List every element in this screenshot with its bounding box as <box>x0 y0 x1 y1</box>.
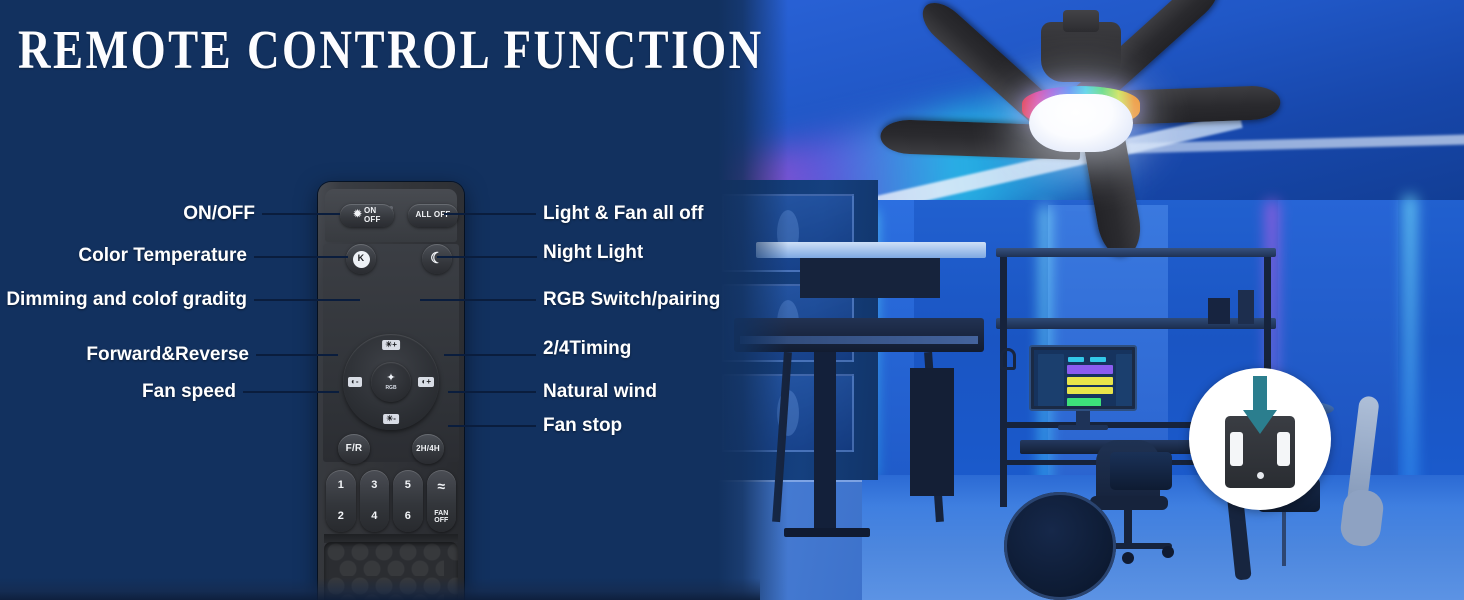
floor-cabinet <box>718 480 862 600</box>
leader-line-timing <box>444 354 536 356</box>
desk-leg-left <box>1000 257 1007 507</box>
product-scene-photo <box>718 0 1464 600</box>
callout-label-natural-wind: Natural wind <box>543 381 657 403</box>
daw-track <box>1067 387 1113 394</box>
leader-line-natural-wind <box>448 391 536 393</box>
daw-track <box>1090 357 1106 362</box>
cove-strip-far <box>1404 195 1416 495</box>
remote-grip-texture <box>324 542 458 600</box>
office-chair-seat <box>1090 496 1168 510</box>
dpad-up-button[interactable]: ☀+ <box>382 340 400 350</box>
number-column[interactable]: 1 2 <box>326 470 356 532</box>
kelvin-icon: K <box>353 251 370 268</box>
speed-button-3[interactable]: 3 <box>360 470 390 501</box>
digital-piano <box>734 318 984 352</box>
insert-down-arrow-icon <box>1243 376 1277 438</box>
dpad-center-button[interactable]: ✦ RGB <box>371 362 411 402</box>
office-chair-caster <box>1162 546 1174 558</box>
monitor-screen <box>1034 350 1132 406</box>
leader-line-rgb-switch <box>420 299 536 301</box>
off-label: OFF <box>434 517 448 524</box>
fan-speed-buttons[interactable]: 1 2 3 4 5 6 ≈ FAN OFF <box>326 470 456 532</box>
timer-label: 2H/4H <box>416 445 440 453</box>
bracket-clip <box>1277 432 1290 466</box>
daw-track <box>1067 365 1113 374</box>
callout-label-fan-stop: Fan stop <box>543 415 622 437</box>
daw-track <box>1038 354 1064 406</box>
wall-mount-bracket-inset <box>1189 368 1331 510</box>
bass-drum-shell <box>1004 492 1116 600</box>
leader-line-color-temperature <box>254 256 348 258</box>
piano-keys <box>740 336 978 344</box>
dpad-right-button[interactable]: ◐+ <box>418 377 434 387</box>
pairing-icon: RGB <box>385 385 396 391</box>
leader-line-fan-speed <box>243 391 339 393</box>
dpad-left-button[interactable]: ◐- <box>348 377 362 387</box>
callout-label-on-off: ON/OFF <box>183 203 255 225</box>
moon-icon: ☾ <box>430 251 444 266</box>
on-off-button[interactable]: ✹ ON OFF <box>340 204 394 227</box>
forward-reverse-button[interactable]: F/R <box>338 434 370 464</box>
color-temperature-button[interactable]: K <box>346 244 376 274</box>
off-label: OFF <box>364 216 381 224</box>
keyboard-riser <box>756 242 986 258</box>
dpad-ring[interactable]: ☀+ ☀- ◐- ◐+ ✦ RGB <box>343 334 439 430</box>
monitor-stand <box>1076 411 1090 425</box>
leader-line-on-off <box>262 213 340 215</box>
keyboard-riser-legs <box>800 258 940 298</box>
sparkle-icon: ✦ <box>386 373 395 384</box>
bracket-clip <box>1230 432 1243 466</box>
leader-line-all-off <box>444 213 536 215</box>
fan-led-light <box>1029 94 1133 152</box>
number-column[interactable]: ≈ FAN OFF <box>427 470 457 532</box>
ceiling-fan <box>866 0 1296 224</box>
remote-control: ✹ ON OFF ALL OFF K ☾ ☀+ ☀- ◐- ◐+ ✦ RGB <box>318 182 464 600</box>
office-chair-column <box>1124 510 1132 546</box>
leader-line-night-light <box>437 256 537 258</box>
desk-upper-shelf <box>996 248 1276 257</box>
headphones <box>1000 348 1016 370</box>
leader-line-fan-stop <box>448 425 536 427</box>
monitor-base <box>1058 425 1108 430</box>
speed-button-1[interactable]: 1 <box>326 470 356 501</box>
desk-speaker-right <box>1208 298 1230 324</box>
all-off-button[interactable]: ALL OFF <box>408 204 458 227</box>
callout-label-forward-reverse: Forward&Reverse <box>86 344 249 366</box>
leader-line-forward-reverse <box>256 354 338 356</box>
office-chair-caster <box>1122 552 1134 564</box>
callout-label-dimming: Dimming and colof graditg <box>6 289 247 311</box>
snare-drum <box>1110 452 1172 490</box>
callout-label-night-light: Night Light <box>543 242 643 264</box>
leader-line-dimming <box>254 299 360 301</box>
speed-button-6[interactable]: 6 <box>393 501 423 532</box>
forward-reverse-label: F/R <box>346 444 363 454</box>
monitor-bezel <box>1029 345 1137 411</box>
desk-item <box>1238 290 1254 324</box>
callout-label-rgb-switch: RGB Switch/pairing <box>543 289 720 311</box>
speed-button-4[interactable]: 4 <box>360 501 390 532</box>
bracket-screw-hole <box>1257 472 1264 479</box>
piano-stand-base <box>814 352 836 532</box>
callout-label-color-temperature: Color Temperature <box>78 245 247 267</box>
piano-stand-foot <box>784 528 870 537</box>
daw-track <box>1067 398 1101 406</box>
daw-track <box>1068 357 1084 362</box>
natural-wind-button[interactable]: ≈ <box>427 470 457 501</box>
daw-track <box>1067 377 1113 385</box>
infographic-canvas: REMOTE CONTROL FUNCTION ON/OFF Color Tem… <box>0 0 1464 600</box>
daw-track <box>1116 354 1132 406</box>
fan-off-button[interactable]: FAN OFF <box>427 501 457 532</box>
speaker-cabinet <box>910 368 954 496</box>
timer-button[interactable]: 2H/4H <box>412 434 444 464</box>
dpad-down-button[interactable]: ☀- <box>383 414 399 424</box>
callout-label-fan-speed: Fan speed <box>142 381 236 403</box>
number-column[interactable]: 5 6 <box>393 470 423 532</box>
fan-label: FAN <box>434 510 448 517</box>
fan-downrod <box>1063 10 1099 32</box>
callout-label-all-off: Light & Fan all off <box>543 203 703 225</box>
night-light-button[interactable]: ☾ <box>422 244 452 274</box>
gear-icon: ✹ <box>353 210 362 220</box>
speed-button-5[interactable]: 5 <box>393 470 423 501</box>
desk-top <box>996 318 1276 329</box>
speed-button-2[interactable]: 2 <box>326 501 356 532</box>
page-title: REMOTE CONTROL FUNCTION <box>18 18 764 81</box>
number-column[interactable]: 3 4 <box>360 470 390 532</box>
callout-label-timing: 2/4Timing <box>543 338 631 360</box>
